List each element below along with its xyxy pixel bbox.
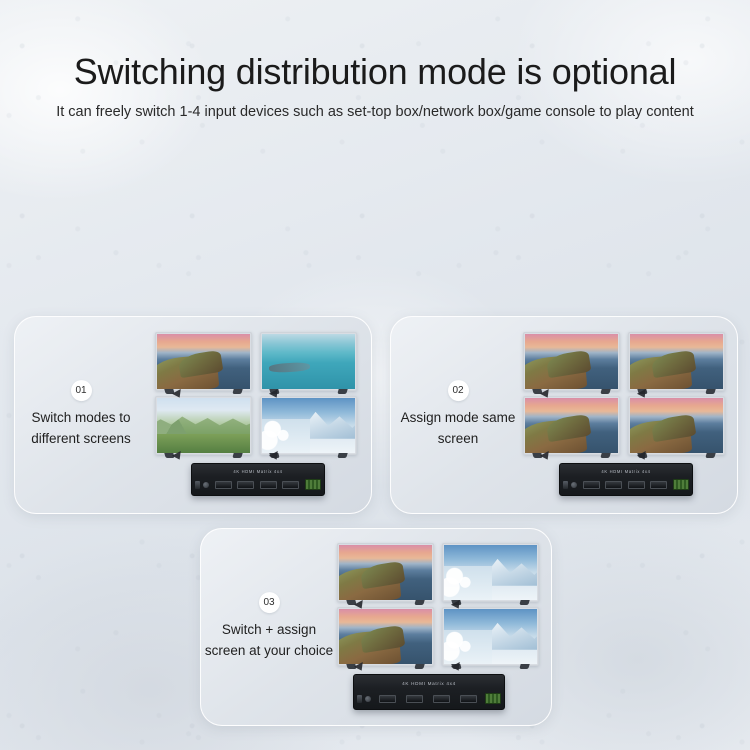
page-title: Switching distribution mode is optional (0, 52, 750, 92)
terminal-block-icon (673, 479, 689, 490)
hdmi-matrix-device: 4K HDMI Matrix 4x4 (191, 463, 325, 496)
scene-coast (525, 398, 618, 453)
scene-bay (262, 334, 355, 389)
scene-snow (444, 609, 537, 664)
tv-display (523, 396, 620, 455)
scene-coast (630, 398, 723, 453)
tv-display (337, 607, 434, 666)
hdmi-port (282, 481, 299, 489)
card-caption-text-03: Switch + assign screen at your choice (201, 620, 337, 662)
card-caption-03: 03 Switch + assign screen at your choice (201, 592, 337, 662)
tv-screen (157, 334, 250, 389)
tv-display (260, 396, 357, 455)
device-front-panel (357, 691, 501, 706)
tv-grid-01 (155, 332, 353, 455)
tv-display (155, 396, 252, 455)
device-front-panel (563, 477, 689, 492)
power-knob-icon (365, 696, 371, 702)
tv-display (442, 607, 539, 666)
tv-display (523, 332, 620, 391)
tv-screen (630, 334, 723, 389)
tv-screen (444, 609, 537, 664)
hdmi-port (650, 481, 667, 489)
tv-grid-02 (523, 332, 721, 455)
scene-snow (262, 398, 355, 453)
power-switch-icon (357, 695, 362, 703)
card-caption-text-02: Assign mode same screen (391, 408, 525, 450)
page-subtitle: It can freely switch 1-4 input devices s… (25, 102, 725, 124)
tv-display (442, 543, 539, 602)
hdmi-port (237, 481, 254, 489)
power-knob-icon (571, 482, 577, 488)
power-switch-icon (195, 481, 200, 489)
device-brand-label: 4K HDMI Matrix 4x4 (192, 469, 324, 474)
mode-card-02: 02 Assign mode same screen 4K HDMI Matri… (390, 316, 738, 514)
scene-coast (525, 334, 618, 389)
tv-screen (339, 545, 432, 600)
card-caption-01: 01 Switch modes to different screens (15, 380, 147, 450)
scene-valley (157, 398, 250, 453)
hdmi-port (460, 695, 477, 703)
device-brand-label: 4K HDMI Matrix 4x4 (354, 681, 504, 686)
tv-screen (262, 334, 355, 389)
hdmi-port (583, 481, 600, 489)
tv-screen (262, 398, 355, 453)
card-caption-02: 02 Assign mode same screen (391, 380, 525, 450)
tv-screen (339, 609, 432, 664)
terminal-block-icon (485, 693, 501, 704)
terminal-block-icon (305, 479, 321, 490)
scene-coast (339, 545, 432, 600)
tv-display (260, 332, 357, 391)
step-badge-01: 01 (71, 380, 92, 401)
power-knob-icon (203, 482, 209, 488)
hdmi-port (379, 695, 396, 703)
hdmi-port (215, 481, 232, 489)
hdmi-port (628, 481, 645, 489)
port-group (374, 695, 482, 703)
tv-grid-03 (337, 543, 535, 666)
hdmi-port (433, 695, 450, 703)
tv-screen (444, 545, 537, 600)
tv-screen (525, 334, 618, 389)
scene-snow (444, 545, 537, 600)
step-badge-02: 02 (448, 380, 469, 401)
tv-display (155, 332, 252, 391)
tv-screen (157, 398, 250, 453)
tv-display (337, 543, 434, 602)
tv-display (628, 396, 725, 455)
device-brand-label: 4K HDMI Matrix 4x4 (560, 469, 692, 474)
card-caption-text-01: Switch modes to different screens (15, 408, 147, 450)
scene-coast (157, 334, 250, 389)
power-switch-icon (563, 481, 568, 489)
mode-card-03: 03 Switch + assign screen at your choice… (200, 528, 552, 726)
tv-screen (630, 398, 723, 453)
port-group (212, 481, 302, 489)
step-badge-03: 03 (259, 592, 280, 613)
hdmi-port (605, 481, 622, 489)
page-header: Switching distribution mode is optional … (0, 52, 750, 124)
hdmi-port (406, 695, 423, 703)
tv-display (628, 332, 725, 391)
mode-card-01: 01 Switch modes to different screens 4K … (14, 316, 372, 514)
scene-coast (630, 334, 723, 389)
hdmi-matrix-device: 4K HDMI Matrix 4x4 (353, 674, 505, 710)
hdmi-matrix-device: 4K HDMI Matrix 4x4 (559, 463, 693, 496)
tv-screen (525, 398, 618, 453)
device-front-panel (195, 477, 321, 492)
hdmi-port (260, 481, 277, 489)
scene-coast (339, 609, 432, 664)
port-group (580, 481, 670, 489)
